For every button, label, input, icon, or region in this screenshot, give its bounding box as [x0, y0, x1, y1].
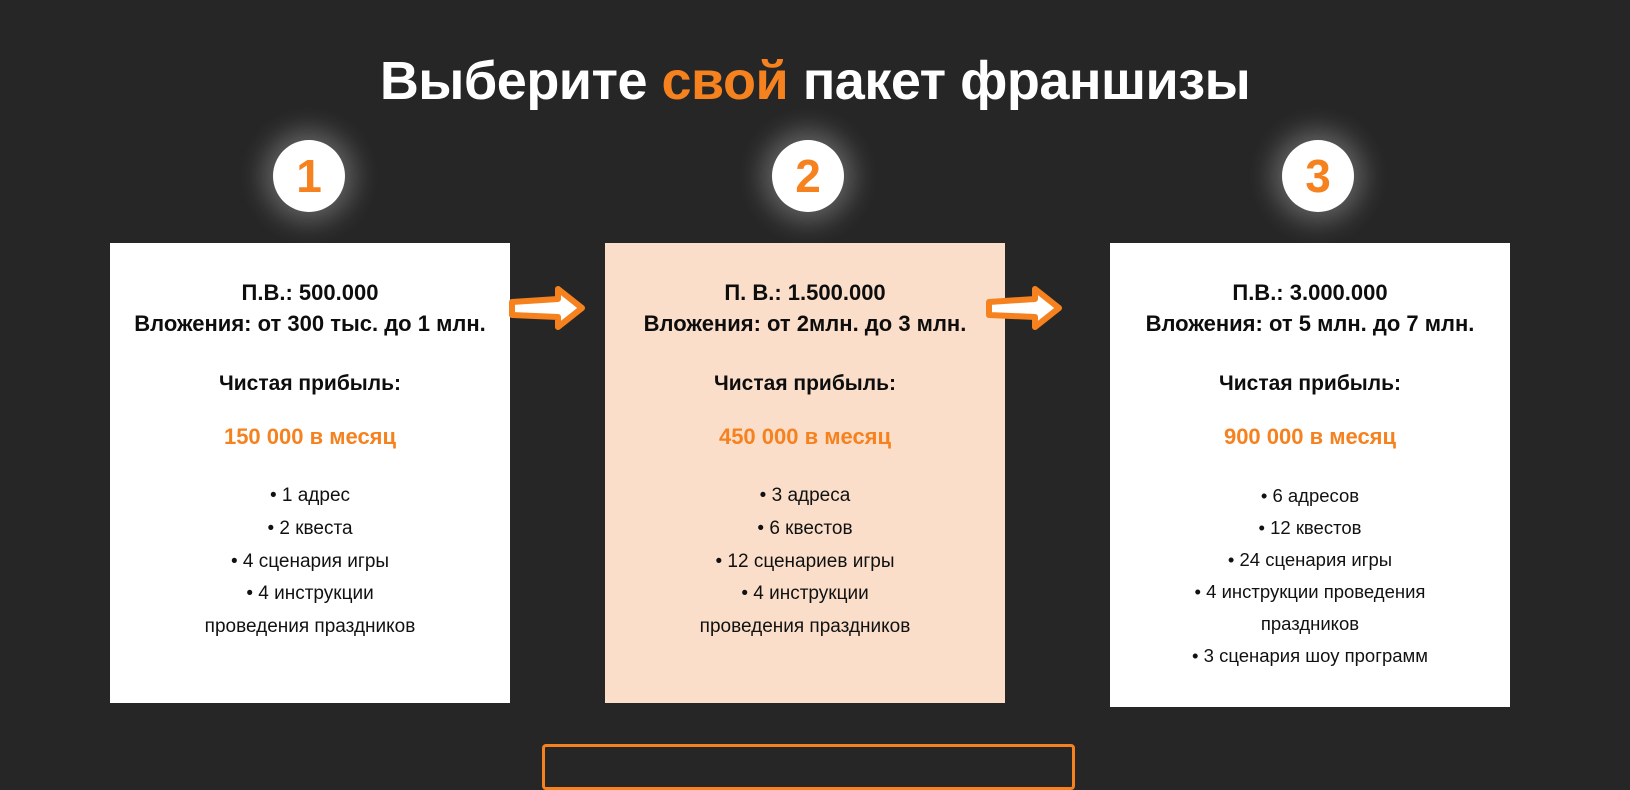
- list-item: 4 инструкции: [617, 578, 993, 611]
- list-item: праздников: [1122, 608, 1498, 640]
- package-card-3[interactable]: П.В.: 3.000.000 Вложения: от 5 млн. до 7…: [1110, 243, 1510, 707]
- list-item: 2 квеста: [122, 513, 498, 546]
- list-item: 12 сценариев игры: [617, 546, 993, 579]
- package-1-investment: Вложения: от 300 тыс. до 1 млн.: [122, 308, 498, 339]
- page-title-part-1: Выберите: [380, 51, 662, 111]
- list-item: 3 сценария шоу программ: [1122, 640, 1498, 672]
- list-item: 6 адресов: [1122, 480, 1498, 512]
- list-item: 12 квестов: [1122, 512, 1498, 544]
- list-item: проведения праздников: [122, 611, 498, 644]
- package-3-profit-value: 900 000 в месяц: [1122, 424, 1498, 450]
- package-badge-2-number: 2: [795, 153, 821, 199]
- package-card-2[interactable]: П. В.: 1.500.000 Вложения: от 2млн. до 3…: [605, 243, 1005, 703]
- package-2-profit-value: 450 000 в месяц: [617, 424, 993, 450]
- page-title-accent: свой: [661, 51, 788, 111]
- package-3-investment: Вложения: от 5 млн. до 7 млн.: [1122, 308, 1498, 339]
- package-1-profit-value: 150 000 в месяц: [122, 424, 498, 450]
- package-1-entry-fee: П.В.: 500.000: [122, 277, 498, 308]
- package-1-profit-label: Чистая прибыль:: [122, 372, 498, 396]
- list-item: 24 сценария игры: [1122, 544, 1498, 576]
- package-badge-3: 3: [1282, 140, 1354, 212]
- package-2-feature-list: 3 адреса 6 квестов 12 сценариев игры 4 и…: [617, 480, 993, 643]
- arrow-right-icon: [985, 285, 1063, 331]
- package-badge-1: 1: [273, 140, 345, 212]
- package-3-profit-label: Чистая прибыль:: [1122, 372, 1498, 396]
- package-badge-3-number: 3: [1305, 153, 1331, 199]
- list-item: 4 инструкции проведения: [1122, 576, 1498, 608]
- page-title: Выберите свой пакет франшизы: [0, 50, 1630, 112]
- package-3-feature-list: 6 адресов 12 квестов 24 сценария игры 4 …: [1122, 480, 1498, 671]
- package-badge-2: 2: [772, 140, 844, 212]
- package-3-entry-fee: П.В.: 3.000.000: [1122, 277, 1498, 308]
- list-item: 1 адрес: [122, 480, 498, 513]
- package-badge-1-number: 1: [296, 153, 322, 199]
- list-item: 6 квестов: [617, 513, 993, 546]
- list-item: 3 адреса: [617, 480, 993, 513]
- page-title-part-2: пакет франшизы: [788, 51, 1250, 111]
- list-item: проведения праздников: [617, 611, 993, 644]
- package-card-1[interactable]: П.В.: 500.000 Вложения: от 300 тыс. до 1…: [110, 243, 510, 703]
- list-item: 4 сценария игры: [122, 546, 498, 579]
- arrow-right-icon: [508, 285, 586, 331]
- package-2-investment: Вложения: от 2млн. до 3 млн.: [617, 308, 993, 339]
- package-2-entry-fee: П. В.: 1.500.000: [617, 277, 993, 308]
- package-2-profit-label: Чистая прибыль:: [617, 372, 993, 396]
- list-item: 4 инструкции: [122, 578, 498, 611]
- package-1-feature-list: 1 адрес 2 квеста 4 сценария игры 4 инстр…: [122, 480, 498, 643]
